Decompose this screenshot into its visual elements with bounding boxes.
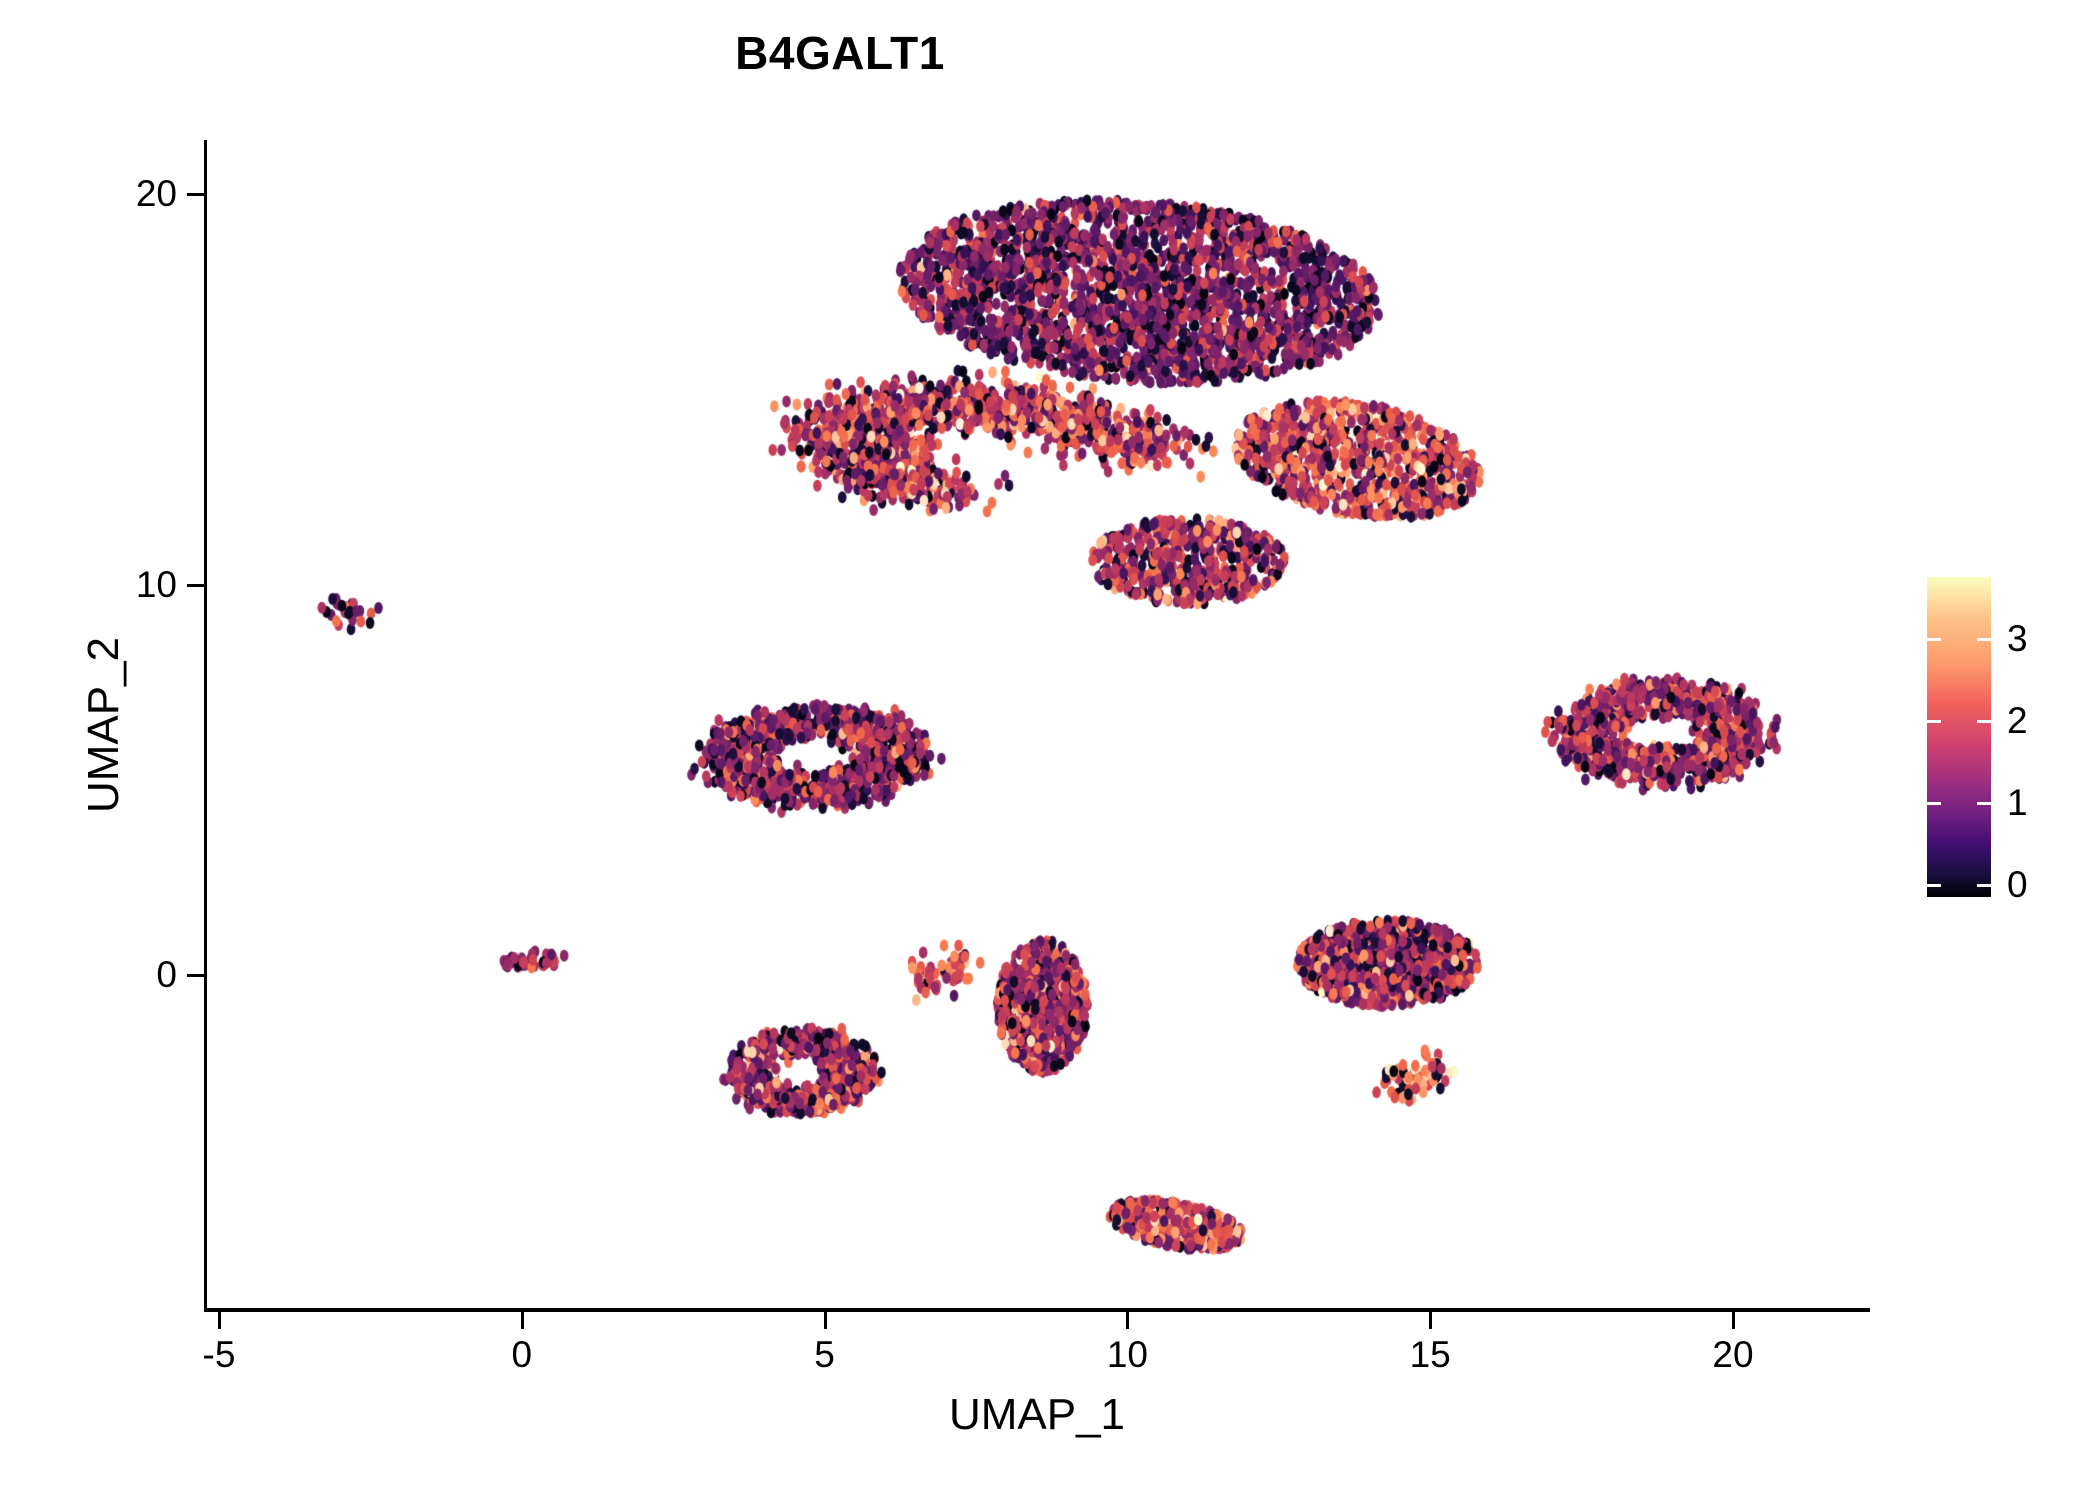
x-tick-label: 10 (1107, 1334, 1148, 1376)
colorbar-tick-mark (1977, 884, 1991, 887)
y-axis-line (204, 140, 207, 1310)
y-axis-label: UMAP_2 (79, 637, 129, 813)
colorbar-tick-label: 2 (2007, 700, 2028, 742)
colorbar-tick-mark (1977, 638, 1991, 641)
plot-panel[interactable] (205, 140, 1870, 1310)
x-axis-label: UMAP_1 (204, 1390, 1870, 1440)
x-tick-label: -5 (203, 1334, 236, 1376)
page-title: B4GALT1 (0, 26, 1680, 80)
colorbar-gradient (1927, 577, 1991, 897)
x-tick-mark (521, 1312, 524, 1329)
x-tick-mark (218, 1312, 221, 1329)
x-tick-mark (1429, 1312, 1432, 1329)
x-axis-line (204, 1308, 1870, 1312)
chart-root: B4GALT1 -505101520 20100 UMAP_1 UMAP_2 3… (0, 0, 2100, 1500)
colorbar-legend[interactable] (1927, 577, 1991, 897)
colorbar-tick-mark (1927, 720, 1941, 723)
x-tick-mark (1126, 1312, 1129, 1329)
y-tick-label: 20 (136, 173, 177, 215)
colorbar-tick-mark (1927, 884, 1941, 887)
x-tick-label: 0 (512, 1334, 533, 1376)
scatter-canvas[interactable] (205, 140, 1870, 1310)
y-tick-mark (187, 193, 204, 196)
colorbar-tick-label: 3 (2007, 618, 2028, 660)
colorbar-tick-mark (1927, 638, 1941, 641)
colorbar-tick-mark (1977, 720, 1991, 723)
x-tick-label: 15 (1410, 1334, 1451, 1376)
colorbar-tick-mark (1927, 802, 1941, 805)
y-axis-label-wrap: UMAP_2 (0, 140, 90, 1310)
x-tick-label: 20 (1712, 1334, 1753, 1376)
y-tick-label: 0 (156, 954, 177, 996)
colorbar-tick-label: 1 (2007, 782, 2028, 824)
y-tick-label: 10 (136, 564, 177, 606)
y-tick-mark (187, 584, 204, 587)
x-tick-mark (824, 1312, 827, 1329)
colorbar-tick-label: 0 (2007, 864, 2028, 906)
x-tick-label: 5 (814, 1334, 835, 1376)
colorbar-tick-mark (1977, 802, 1991, 805)
x-tick-mark (1732, 1312, 1735, 1329)
y-tick-mark (187, 974, 204, 977)
